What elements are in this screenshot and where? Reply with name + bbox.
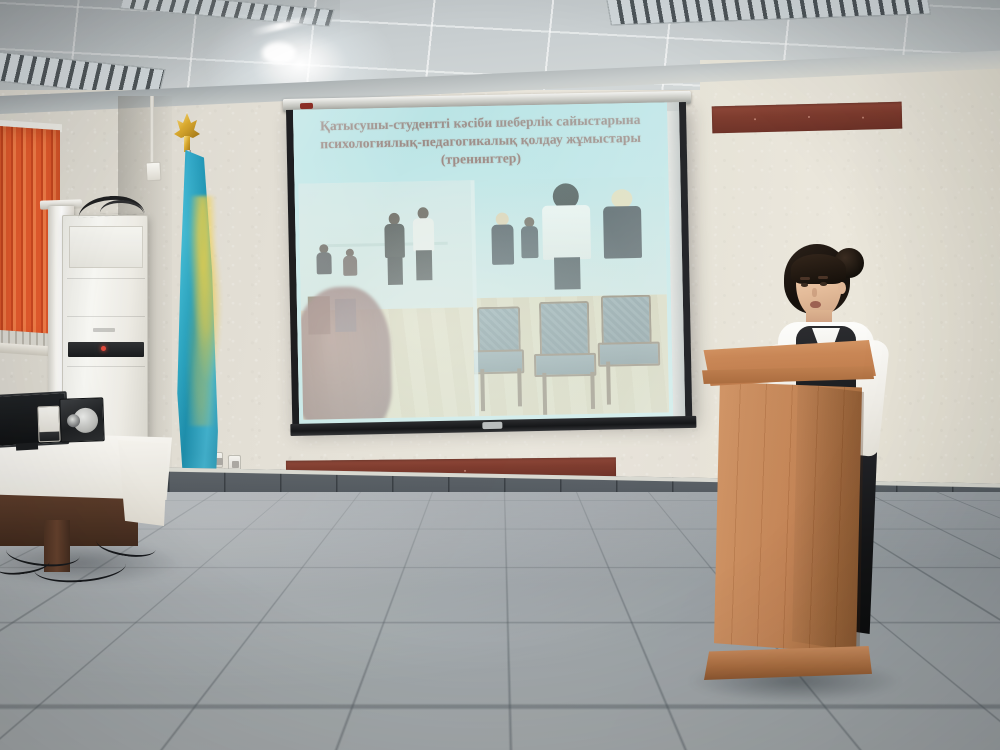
wall-switch-box[interactable]	[146, 162, 162, 182]
slide-photo-right-panel	[470, 176, 669, 416]
slide-photo-left-panel	[298, 180, 475, 419]
slide-title: Қатысушы-студентті кәсіби шеберлік сайыс…	[312, 111, 650, 172]
presenter-nose	[812, 288, 817, 297]
lectern-side-shading	[792, 384, 864, 652]
presenter-hair-front	[791, 254, 846, 284]
presenter-mouth	[810, 301, 821, 308]
large-black-speaker	[59, 397, 105, 443]
lectern-base-plinth	[704, 646, 872, 680]
projected-slide: Қатысушы-студентті кәсіби шеберлік сайыс…	[293, 102, 673, 427]
ac-top-panel	[69, 226, 143, 268]
slide-person-back-left	[518, 217, 543, 317]
slide-photograph	[298, 176, 669, 419]
wall-conduit	[150, 96, 154, 166]
projection-screen[interactable]: Қатысушы-студентті кәсіби шеберлік сайыс…	[286, 102, 692, 428]
wooden-lectern	[700, 340, 876, 692]
flag-emblem	[186, 196, 226, 426]
monitor-stand	[16, 442, 38, 450]
ceiling-spotlight-core	[262, 42, 296, 64]
ac-brand-logo	[93, 328, 115, 332]
screen-roller-knob	[300, 103, 313, 109]
ac-power-led	[101, 346, 106, 351]
presenter-eye-left	[801, 283, 808, 287]
slide-person-standing-2	[409, 207, 439, 340]
presenter-ear	[838, 282, 846, 294]
conference-room-photo: Қатысушы-студентті кәсіби шеберлік сайыс…	[0, 0, 1000, 750]
slide-foreground-silhouette	[298, 286, 392, 420]
screen-surface: Қатысушы-студентті кәсіби шеберлік сайыс…	[293, 102, 673, 427]
table-cloth-drape	[118, 440, 168, 526]
presenter-eye-right	[820, 282, 827, 286]
small-white-speaker	[37, 406, 60, 443]
wall-trim-panel-upper-right	[712, 102, 903, 134]
presenter-brow-right	[818, 276, 828, 279]
ac-display-vent	[68, 342, 144, 357]
screen-bar-handle[interactable]	[482, 422, 502, 429]
presenter-brow-left	[800, 277, 810, 280]
